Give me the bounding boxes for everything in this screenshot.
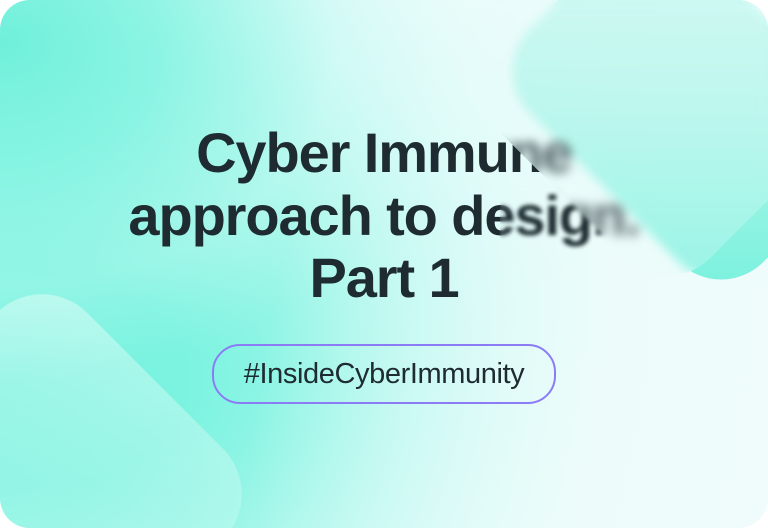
page-title-line-3: Part 1 [128,247,639,310]
banner-card: Cyber Immune approach to design. Part 1 … [0,0,768,528]
page-title-line-2: approach to design. [128,185,639,248]
banner-content: Cyber Immune approach to design. Part 1 … [0,0,768,528]
page-title: Cyber Immune approach to design. Part 1 [92,122,675,310]
hashtag-container: #InsideCyberImmunity [0,344,768,404]
page-title-line-1: Cyber Immune [128,122,639,185]
hashtag-badge[interactable]: #InsideCyberImmunity [212,344,557,404]
